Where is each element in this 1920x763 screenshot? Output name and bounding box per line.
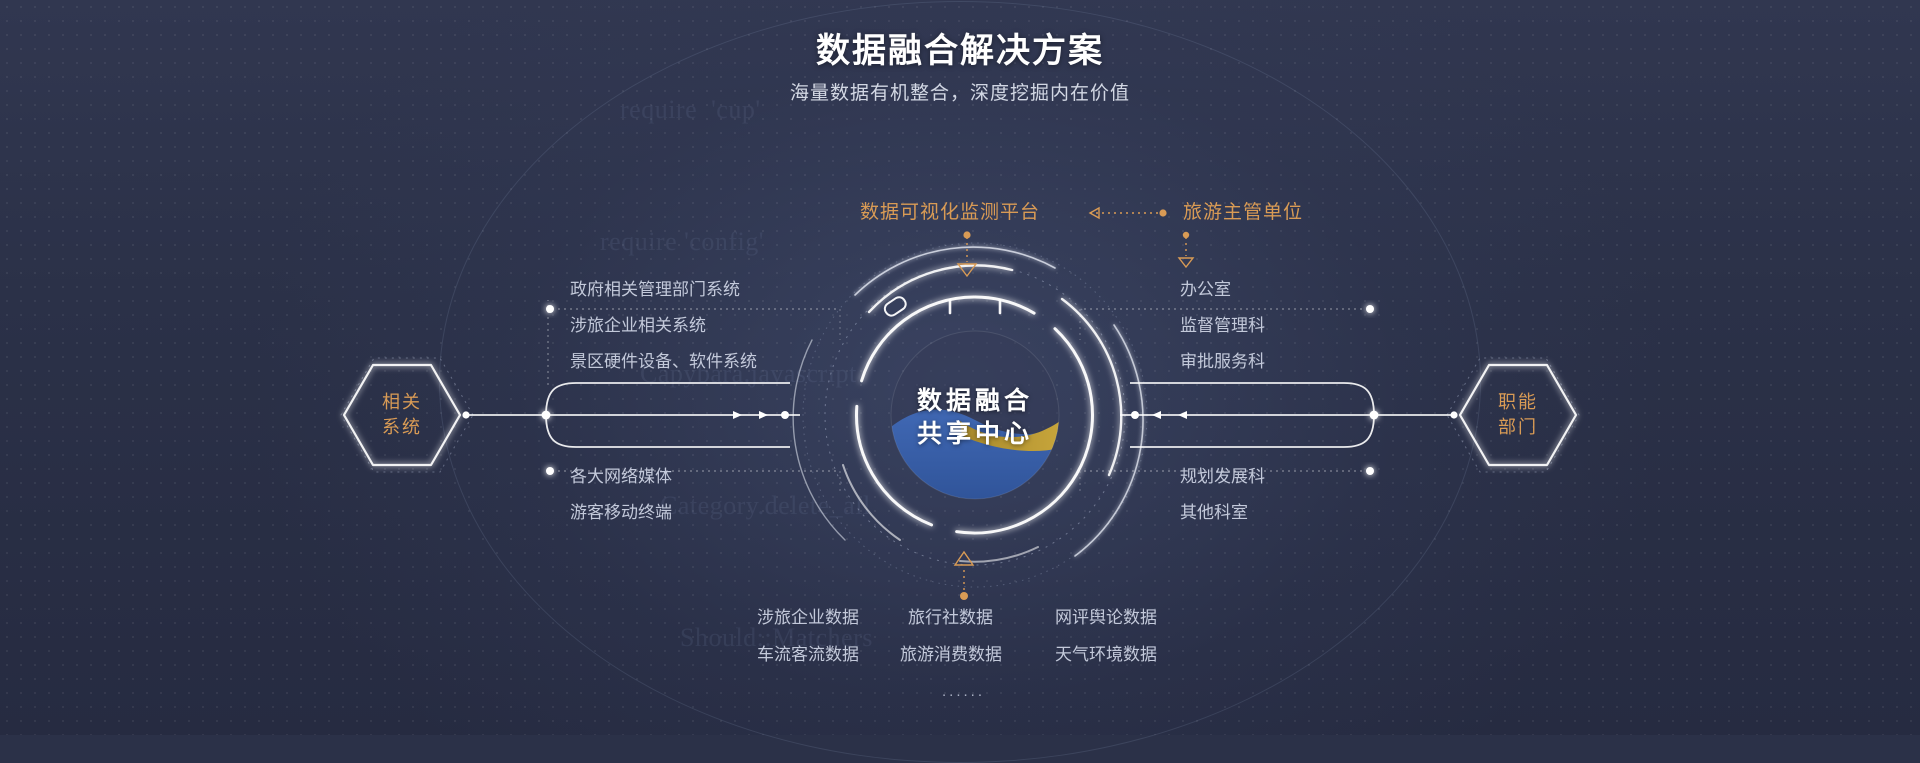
hex-left-line1: 相关 — [342, 390, 462, 415]
page-title: 数据融合解决方案 — [0, 34, 1920, 68]
bottom-orange-connector — [955, 552, 973, 600]
right-bottom-item: 其他科室 — [1180, 504, 1248, 521]
right-fork-lower — [1130, 415, 1374, 447]
hex-left-line2: 系统 — [342, 415, 462, 440]
bottom-item: 车流客流数据 — [757, 646, 859, 663]
link-endpoint-dot — [1159, 209, 1166, 216]
center-line1: 数据融合 — [875, 385, 1075, 418]
arrow-up-icon — [955, 552, 973, 565]
center-core-label: 数据融合 共享中心 — [875, 385, 1075, 451]
left-top-item: 政府相关管理部门系统 — [570, 281, 740, 298]
right-fork-upper — [1130, 383, 1374, 415]
left-fork-lower — [546, 415, 790, 447]
outer-arc-top — [855, 247, 1055, 295]
rail-endpoint-dot — [1366, 305, 1374, 313]
spine-endpoint-dot — [1450, 411, 1457, 418]
ring-node-marker — [883, 295, 909, 318]
bottom-item: 天气环境数据 — [1055, 646, 1157, 663]
spine-endpoint-dot — [781, 411, 789, 419]
left-top-item: 涉旅企业相关系统 — [570, 317, 706, 334]
label-tourism-authority: 旅游主管单位 — [1183, 203, 1303, 222]
right-top-item: 审批服务科 — [1180, 353, 1265, 370]
arrow-left-icon — [733, 411, 742, 419]
hex-right-line2: 部门 — [1458, 415, 1578, 440]
hex-right-label: 职能 部门 — [1458, 390, 1578, 440]
bottom-item: 旅游消费数据 — [900, 646, 1002, 663]
spine-endpoint-dot — [1131, 411, 1139, 419]
arrow-down-icon — [1179, 258, 1193, 267]
right-top-item: 监督管理科 — [1180, 317, 1265, 334]
rail-endpoint-dot — [546, 305, 554, 313]
mid-arc-topleft — [869, 265, 1012, 312]
spine-endpoint-dot — [462, 411, 469, 418]
bottom-item: 涉旅企业数据 — [757, 609, 859, 626]
header: 数据融合解决方案 海量数据有机整合，深度挖掘内在价值 — [0, 34, 1920, 103]
arrow-right-icon — [1152, 411, 1161, 419]
rail-endpoint-dot — [1366, 467, 1374, 475]
ring-top-notch — [950, 300, 1000, 313]
hex-left-label: 相关 系统 — [342, 390, 462, 440]
rail-endpoint-dot — [546, 467, 554, 475]
right-bottom-item: 规划发展科 — [1180, 468, 1265, 485]
right-top-item: 办公室 — [1180, 281, 1231, 298]
arrow-right-icon — [1178, 411, 1187, 419]
left-top-item: 景区硬件设备、软件系统 — [570, 353, 757, 370]
center-line2: 共享中心 — [875, 418, 1075, 451]
bottom-item: 旅行社数据 — [908, 609, 993, 626]
bottom-ellipsis: ...... — [942, 684, 985, 699]
hex-right-line1: 职能 — [1458, 390, 1578, 415]
outer-arc-left — [793, 340, 845, 540]
link-endpoint-dot — [1183, 232, 1189, 238]
left-bottom-item: 游客移动终端 — [570, 504, 672, 521]
link-endpoint-dot — [963, 231, 970, 238]
mid-arc-bottom — [960, 547, 1038, 562]
mid-arc-bottomleft — [843, 465, 900, 540]
left-fork-upper — [546, 383, 790, 415]
label-visualization-platform: 数据可视化监测平台 — [860, 203, 1040, 222]
page-subtitle: 海量数据有机整合，深度挖掘内在价值 — [0, 84, 1920, 103]
left-bottom-item: 各大网络媒体 — [570, 468, 672, 485]
arrow-left-icon — [759, 411, 768, 419]
bottom-item: 网评舆论数据 — [1055, 609, 1157, 626]
link-endpoint-dot — [960, 592, 968, 600]
